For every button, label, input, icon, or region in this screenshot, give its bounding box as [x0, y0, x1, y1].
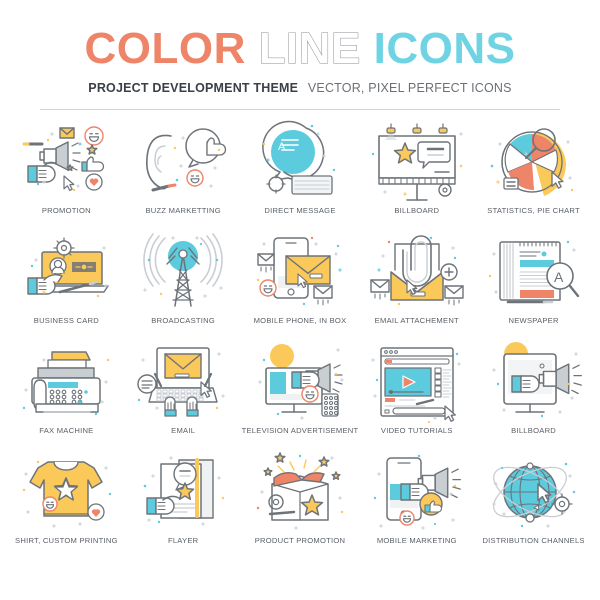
icon-label-product-promotion: PRODUCT PROMOTION [255, 536, 346, 545]
poster-canvas: COLOR LINE ICONS PROJECT DEVELOPMENT THE… [0, 0, 600, 600]
newspaper-icon: A [482, 230, 586, 314]
icon-label-email: EMAIL [171, 426, 195, 435]
icon-cell-fax-machine[interactable]: FAX MACHINE [8, 340, 125, 450]
icon-grid: PROMOTIONBUZZ MARKETTINGADIRECT MESSAGEB… [0, 120, 600, 560]
icon-label-shirt-custom-printing: SHIRT, CUSTOM PRINTING [15, 536, 118, 545]
email-icon [131, 340, 235, 424]
icon-cell-video-tutorials[interactable]: VIDEO TUTORIALS [358, 340, 475, 450]
statistics-pie-chart-icon [482, 120, 586, 204]
icon-cell-email-attachement[interactable]: EMAIL ATTACHEMENT [358, 230, 475, 340]
email-attachement-icon [365, 230, 469, 314]
icon-cell-buzz-marketting[interactable]: BUZZ MARKETTING [125, 120, 242, 230]
icon-label-mobile-marketing: MOBILE MARKETING [377, 536, 457, 545]
icon-label-statistics-pie-chart: STATISTICS, PIE CHART [487, 206, 580, 215]
svg-text:A: A [278, 141, 286, 153]
icon-label-business-card: BUSINESS CARD [34, 316, 99, 325]
icon-cell-billboard-2[interactable]: BILLBOARD [475, 340, 592, 450]
icon-cell-product-promotion[interactable]: PRODUCT PROMOTION [242, 450, 359, 560]
billboard-2-icon [482, 340, 586, 424]
icon-label-email-attachement: EMAIL ATTACHEMENT [375, 316, 459, 325]
icon-cell-promotion[interactable]: PROMOTION [8, 120, 125, 230]
icon-cell-television-advertisement[interactable]: TELEVISION ADVERTISEMENT [242, 340, 359, 450]
icon-label-billboard: BILLBOARD [394, 206, 439, 215]
icon-cell-broadcasting[interactable]: BROADCASTING [125, 230, 242, 340]
poster-header: COLOR LINE ICONS PROJECT DEVELOPMENT THE… [0, 0, 600, 110]
icon-label-newspaper: NEWSPAPER [508, 316, 558, 325]
page-subtitle: PROJECT DEVELOPMENT THEME VECTOR, PIXEL … [0, 81, 600, 95]
buzz-marketting-icon [131, 120, 235, 204]
icon-cell-shirt-custom-printing[interactable]: SHIRT, CUSTOM PRINTING [8, 450, 125, 560]
title-word-icons: ICONS [374, 24, 516, 73]
icon-cell-flayer[interactable]: FLAYER [125, 450, 242, 560]
header-divider [40, 109, 560, 110]
flayer-icon [131, 450, 235, 534]
icon-cell-billboard[interactable]: BILLBOARD [358, 120, 475, 230]
svg-text:A: A [554, 269, 564, 285]
product-promotion-icon [248, 450, 352, 534]
title-word-line: LINE [259, 24, 361, 73]
page-title: COLOR LINE ICONS [0, 26, 600, 72]
fax-machine-icon [14, 340, 118, 424]
icon-cell-direct-message[interactable]: ADIRECT MESSAGE [242, 120, 359, 230]
icon-label-fax-machine: FAX MACHINE [39, 426, 93, 435]
broadcasting-icon [131, 230, 235, 314]
subtitle-theme: PROJECT DEVELOPMENT THEME [88, 81, 298, 95]
icon-label-broadcasting: BROADCASTING [151, 316, 215, 325]
icon-label-television-advertisement: TELEVISION ADVERTISEMENT [242, 426, 359, 435]
icon-cell-business-card[interactable]: BUSINESS CARD [8, 230, 125, 340]
icon-label-video-tutorials: VIDEO TUTORIALS [381, 426, 453, 435]
title-word-color: COLOR [85, 24, 246, 73]
mobile-phone-in-box-icon [248, 230, 352, 314]
business-card-icon [14, 230, 118, 314]
icon-label-flayer: FLAYER [168, 536, 198, 545]
icon-label-mobile-phone-in-box: MOBILE PHONE, IN BOX [254, 316, 347, 325]
video-tutorials-icon [365, 340, 469, 424]
icon-cell-distribution-channels[interactable]: DISTRIBUTION CHANNELS [475, 450, 592, 560]
distribution-channels-icon [482, 450, 586, 534]
icon-cell-mobile-marketing[interactable]: MOBILE MARKETING [358, 450, 475, 560]
mobile-marketing-icon [365, 450, 469, 534]
television-advertisement-icon [248, 340, 352, 424]
icon-label-promotion: PROMOTION [42, 206, 91, 215]
icon-cell-email[interactable]: EMAIL [125, 340, 242, 450]
icon-label-direct-message: DIRECT MESSAGE [264, 206, 335, 215]
icon-label-buzz-marketting: BUZZ MARKETTING [145, 206, 220, 215]
icon-cell-statistics-pie-chart[interactable]: STATISTICS, PIE CHART [475, 120, 592, 230]
shirt-custom-printing-icon [14, 450, 118, 534]
icon-cell-mobile-phone-in-box[interactable]: MOBILE PHONE, IN BOX [242, 230, 359, 340]
promotion-icon [14, 120, 118, 204]
subtitle-detail: VECTOR, PIXEL PERFECT ICONS [308, 81, 512, 95]
direct-message-icon: A [248, 120, 352, 204]
billboard-icon [365, 120, 469, 204]
icon-label-billboard-2: BILLBOARD [511, 426, 556, 435]
icon-label-distribution-channels: DISTRIBUTION CHANNELS [482, 536, 584, 545]
icon-cell-newspaper[interactable]: ANEWSPAPER [475, 230, 592, 340]
